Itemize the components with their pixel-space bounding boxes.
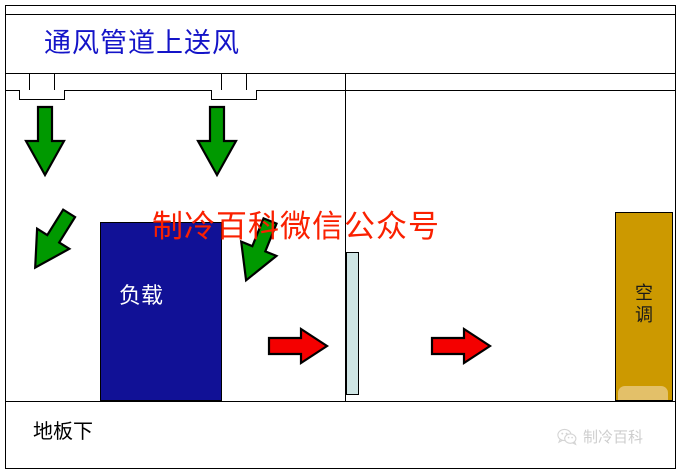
brand-logo: 制冷百科 [557, 428, 643, 446]
watermark-text: 制冷百科微信公众号 [152, 207, 440, 247]
supply-air-arrow-down-2 [196, 105, 238, 177]
supply-air-arrow-down-1 [24, 105, 66, 177]
raised-floor-line [5, 401, 676, 402]
diagram-title: 通风管道上送风 [44, 24, 240, 64]
air-conditioner-unit: 空调 [615, 212, 673, 401]
underfloor-label: 地板下 [33, 418, 93, 444]
duct-stub-right [221, 73, 247, 91]
brand-logo-text: 制冷百科 [583, 428, 643, 446]
duct-stub-left [29, 73, 55, 91]
duct-line [5, 90, 676, 91]
wechat-icon [557, 428, 577, 446]
ceiling-diffuser-left [19, 90, 65, 100]
room-right-wall [675, 74, 676, 401]
ceiling-diffuser-right [211, 90, 257, 100]
ceiling-line [5, 73, 676, 74]
return-air-arrow-right-2 [430, 327, 492, 365]
diagram-canvas: 通风管道上送风 负载 空 [0, 0, 681, 474]
air-conditioner-label: 空调 [634, 283, 654, 327]
load-block: 负载 [100, 222, 222, 401]
return-air-arrow-right-1 [267, 327, 329, 365]
supply-air-arrow-diagonal-1 [22, 205, 84, 277]
load-block-label: 负载 [119, 283, 163, 311]
cold-aisle-panel [346, 252, 359, 395]
air-conditioner-base [618, 386, 668, 400]
